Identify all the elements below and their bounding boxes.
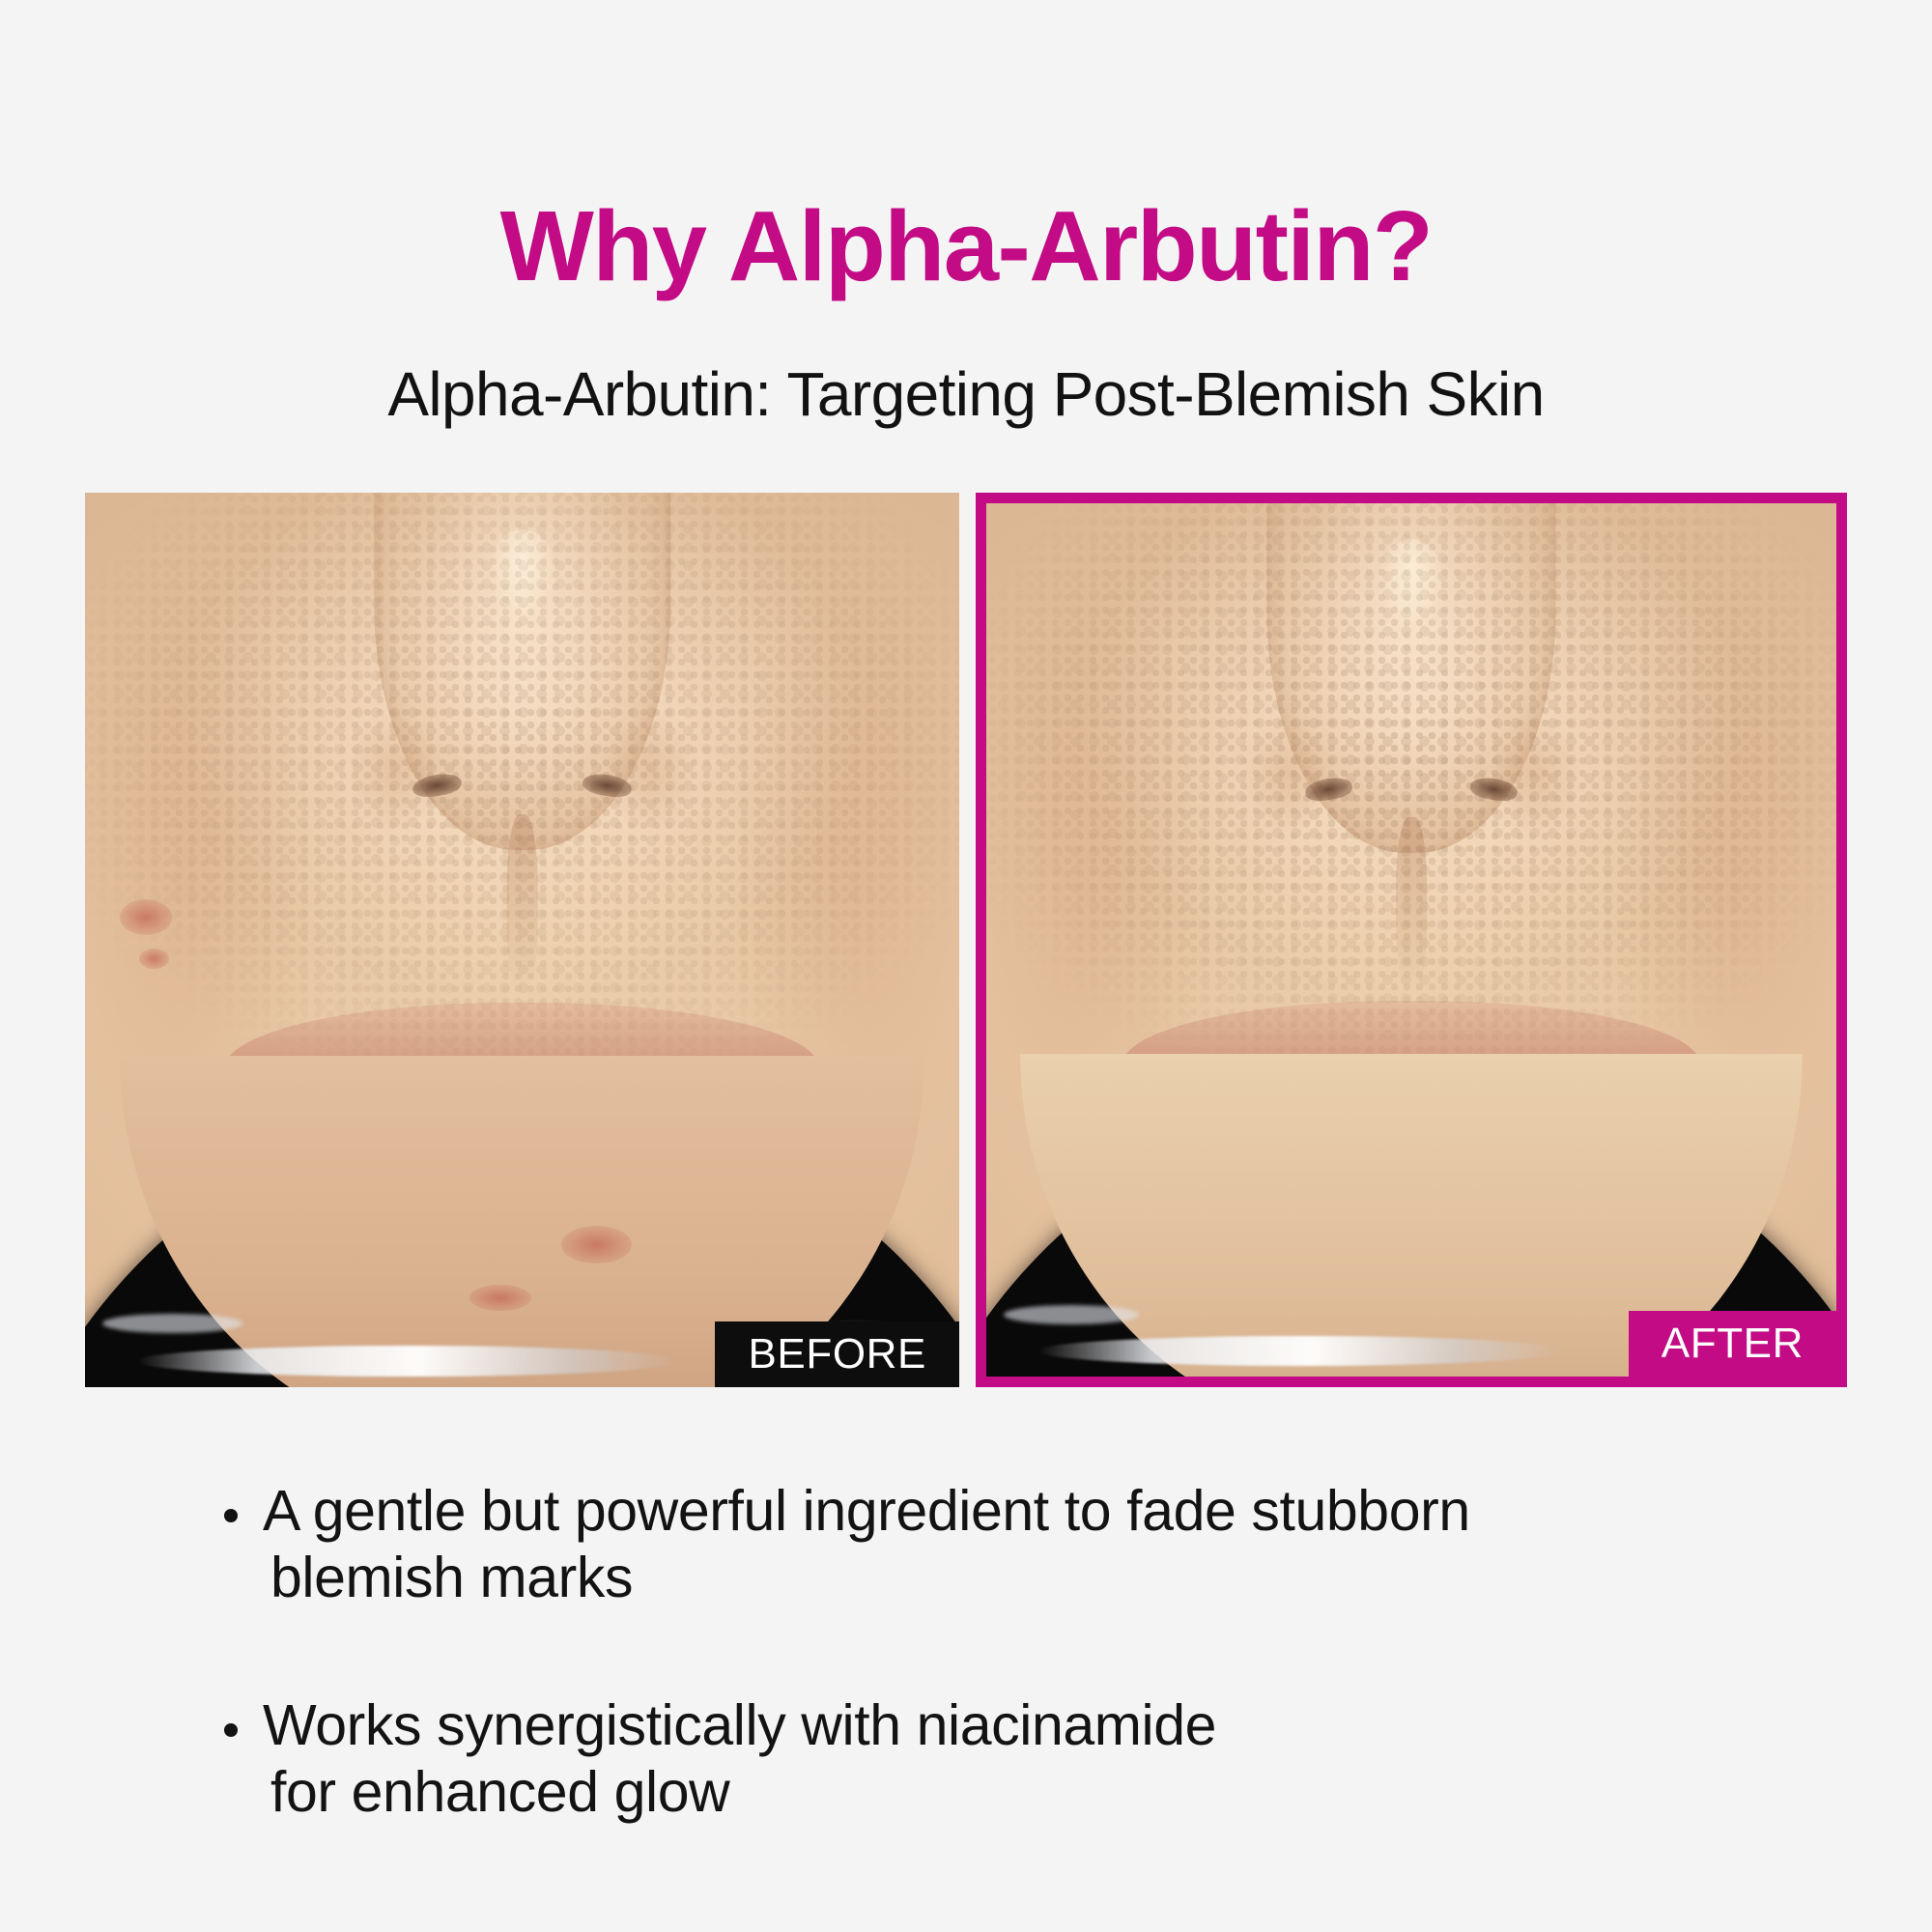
bullet-dot-icon	[224, 1723, 238, 1737]
before-label-badge: BEFORE	[715, 1321, 959, 1387]
before-panel: BEFORE	[85, 493, 959, 1387]
promo-card: Why Alpha-Arbutin? Alpha-Arbutin: Target…	[0, 0, 1932, 1932]
benefits-list: A gentle but powerful ingredient to fade…	[224, 1478, 1731, 1826]
bullet-line: blemish marks	[263, 1545, 1731, 1611]
page-title: Why Alpha-Arbutin?	[0, 194, 1932, 298]
page-subtitle: Alpha-Arbutin: Targeting Post-Blemish Sk…	[0, 360, 1932, 428]
before-after-comparison: BEFORE	[85, 493, 1847, 1387]
after-photo	[986, 503, 1836, 1377]
after-panel: AFTER	[976, 493, 1847, 1387]
collar-highlight	[137, 1346, 679, 1376]
collar-highlight	[1037, 1336, 1565, 1366]
bullet-line: for enhanced glow	[263, 1759, 1731, 1826]
collar-highlight	[1004, 1305, 1140, 1324]
blemish-mark	[139, 949, 169, 968]
list-item: Works synergistically with niacinamide f…	[224, 1692, 1731, 1826]
bullet-line: A gentle but powerful ingredient to fade…	[263, 1478, 1731, 1545]
blemish-mark	[469, 1285, 530, 1312]
before-photo	[85, 493, 959, 1387]
bullet-line: Works synergistically with niacinamide	[263, 1692, 1731, 1759]
after-label-badge: AFTER	[1629, 1311, 1836, 1377]
blemish-mark	[561, 1226, 631, 1264]
list-item: A gentle but powerful ingredient to fade…	[224, 1478, 1731, 1611]
bullet-dot-icon	[224, 1509, 238, 1522]
